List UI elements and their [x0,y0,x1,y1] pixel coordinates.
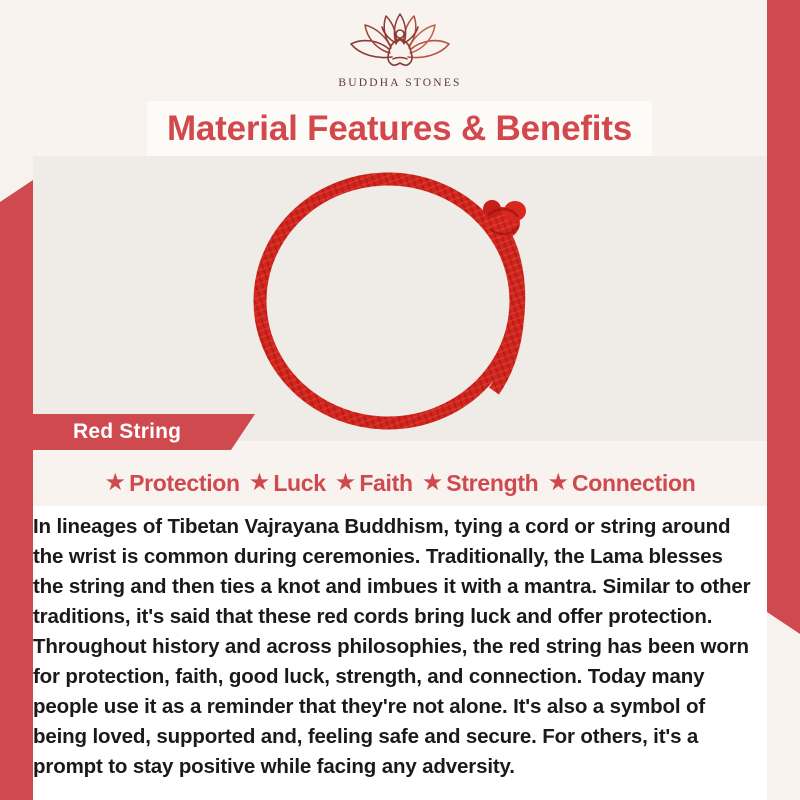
title-banner: Material Features & Benefits [147,101,652,156]
benefit-label: Luck [273,470,325,497]
infographic-root: BUDDHA STONES Material Features & Benefi… [0,0,800,800]
star-icon: ★ [422,471,444,495]
frame-bar-left [0,180,33,800]
star-icon: ★ [105,471,127,495]
material-label: Red String [33,420,181,444]
product-image-area [33,156,767,441]
page-title: Material Features & Benefits [167,109,632,149]
brand-header: BUDDHA STONES [33,0,767,103]
description-block: In lineages of Tibetan Vajrayana Buddhis… [33,506,767,800]
description-paragraph: In lineages of Tibetan Vajrayana Buddhis… [33,512,757,782]
brand-name: BUDDHA STONES [338,77,461,89]
star-icon: ★ [249,471,271,495]
lotus-meditation-icon [334,10,466,76]
content-canvas: BUDDHA STONES Material Features & Benefi… [33,0,767,800]
benefit-item-protection: ★ Protection [102,470,243,497]
star-icon: ★ [335,471,357,495]
benefit-label: Connection [572,470,696,497]
benefit-label: Faith [359,470,412,497]
benefits-list: ★ Protection ★ Luck ★ Faith ★ Strength ★… [33,462,767,504]
frame-bar-right [767,34,800,634]
material-label-banner: Red String [33,414,255,450]
benefit-item-luck: ★ Luck [246,470,329,497]
benefit-label: Protection [129,470,240,497]
benefit-label: Strength [446,470,538,497]
star-icon: ★ [547,471,569,495]
benefit-item-faith: ★ Faith [332,470,416,497]
benefit-item-connection: ★ Connection [544,470,698,497]
benefit-item-strength: ★ Strength [419,470,542,497]
